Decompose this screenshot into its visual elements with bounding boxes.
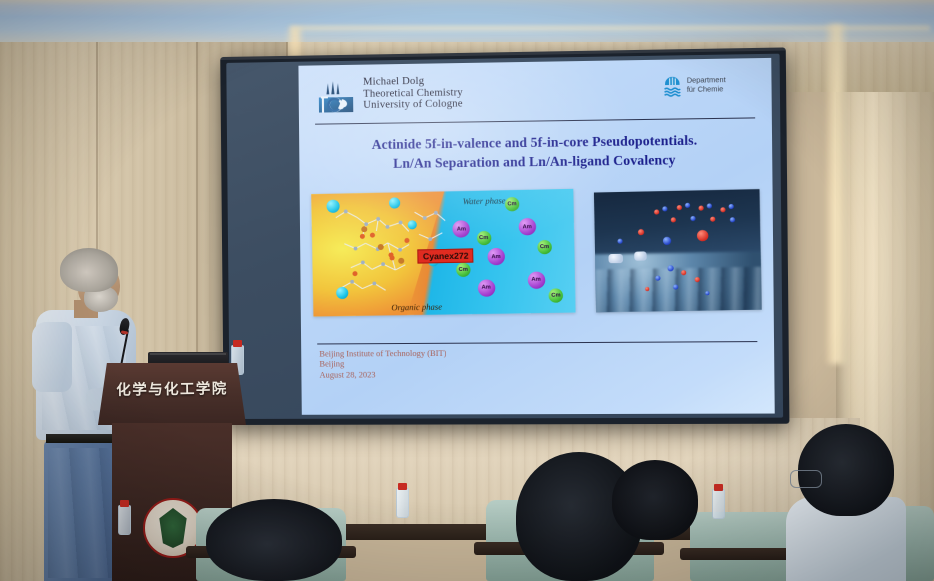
orbital-lobe xyxy=(662,207,667,212)
orbital-lobe xyxy=(695,277,700,282)
footer-line-1: Beijing Institute of Technology (BIT) xyxy=(319,349,446,360)
ion-sphere xyxy=(336,287,348,299)
orbital-lobe xyxy=(720,207,725,212)
cyanex-label: Cyanex272 xyxy=(418,249,474,264)
orbital-lobe xyxy=(662,237,670,245)
surface-slab xyxy=(608,254,623,263)
department-block: Department für Chemie xyxy=(664,75,726,98)
slide-title: Actinide 5f-in-valence and 5f-in-core Ps… xyxy=(323,130,747,174)
ion-americium: Am xyxy=(527,271,545,288)
ion-curium: Cm xyxy=(549,288,564,302)
institution-line-3: University of Cologne xyxy=(363,99,463,112)
water-phase-label: Water phase xyxy=(463,195,506,206)
ion-americium: Am xyxy=(518,218,536,236)
lecture-hall-photo: Michael Dolg Theoretical Chemistry Unive… xyxy=(0,0,934,581)
bottle-cap xyxy=(714,484,723,491)
footer-line-3: August 28, 2023 xyxy=(319,370,446,381)
podium-sign: 化学与化工学院 xyxy=(98,377,246,400)
ceiling-glow xyxy=(0,0,934,42)
orbital-lobe xyxy=(654,209,659,214)
orbital-lobe xyxy=(685,203,690,208)
bottle-cap xyxy=(120,500,129,507)
orbital-lobe xyxy=(655,275,660,280)
ion-curium: Cm xyxy=(537,240,552,254)
orbital-lobe xyxy=(730,217,735,222)
bottle-cap xyxy=(398,483,407,490)
water-bottle[interactable] xyxy=(712,489,725,519)
footer-divider xyxy=(317,341,757,345)
slide-footer: Beijing Institute of Technology (BIT) Be… xyxy=(319,349,447,381)
orbital-lobe xyxy=(677,205,682,210)
footer-line-2: Beijing xyxy=(319,359,446,370)
projection-screen: Michael Dolg Theoretical Chemistry Unive… xyxy=(220,47,789,425)
ion-curium: Cm xyxy=(456,262,471,276)
department-line-2: für Chemie xyxy=(687,85,726,95)
ion-curium: Cm xyxy=(505,197,520,211)
orbital-lobe xyxy=(618,239,623,244)
ion-americium: Am xyxy=(487,248,505,265)
orbital-lobe xyxy=(728,204,733,209)
slide-header: Michael Dolg Theoretical Chemistry Unive… xyxy=(315,70,756,121)
attendee-head xyxy=(206,499,342,581)
department-line-1: Department xyxy=(687,75,726,85)
ion-curium: Cm xyxy=(476,231,491,245)
orbital-lobe xyxy=(705,291,709,295)
bottle-cap xyxy=(233,340,242,347)
cove-light-right xyxy=(826,24,848,364)
orbital-lobe xyxy=(698,206,703,211)
solvent-extraction-diagram: Am Am Am Am Am Cm Cm Cm Cm Cm Water phas… xyxy=(311,189,575,317)
orbital-lobe xyxy=(637,229,643,235)
ion-americium: Am xyxy=(477,279,495,296)
emblem-device xyxy=(155,508,191,548)
speaker-sleeve xyxy=(32,322,72,392)
water-bottle[interactable] xyxy=(396,488,409,518)
university-of-cologne-logo xyxy=(315,81,358,116)
attendee-head xyxy=(612,460,698,540)
orbital-lobe xyxy=(690,216,695,221)
orbital-lobe xyxy=(707,203,712,208)
orbital-lobe xyxy=(710,217,715,222)
water-bottle[interactable] xyxy=(118,505,131,535)
orbital-lobe xyxy=(697,230,709,241)
orbital-density-render xyxy=(594,189,762,312)
department-text: Department für Chemie xyxy=(687,75,726,95)
organic-phase-label: Organic phase xyxy=(391,301,442,312)
surface-slab xyxy=(635,251,648,260)
institution-lines: Michael Dolg Theoretical Chemistry Unive… xyxy=(363,75,463,112)
surface-contours xyxy=(594,266,762,312)
laptop-edge xyxy=(150,353,226,355)
eyeglasses xyxy=(790,470,822,488)
department-chemistry-logo xyxy=(664,76,682,99)
speaker-hair xyxy=(60,248,118,292)
orbital-lobe xyxy=(670,217,675,222)
presentation-slide: Michael Dolg Theoretical Chemistry Unive… xyxy=(298,58,774,415)
